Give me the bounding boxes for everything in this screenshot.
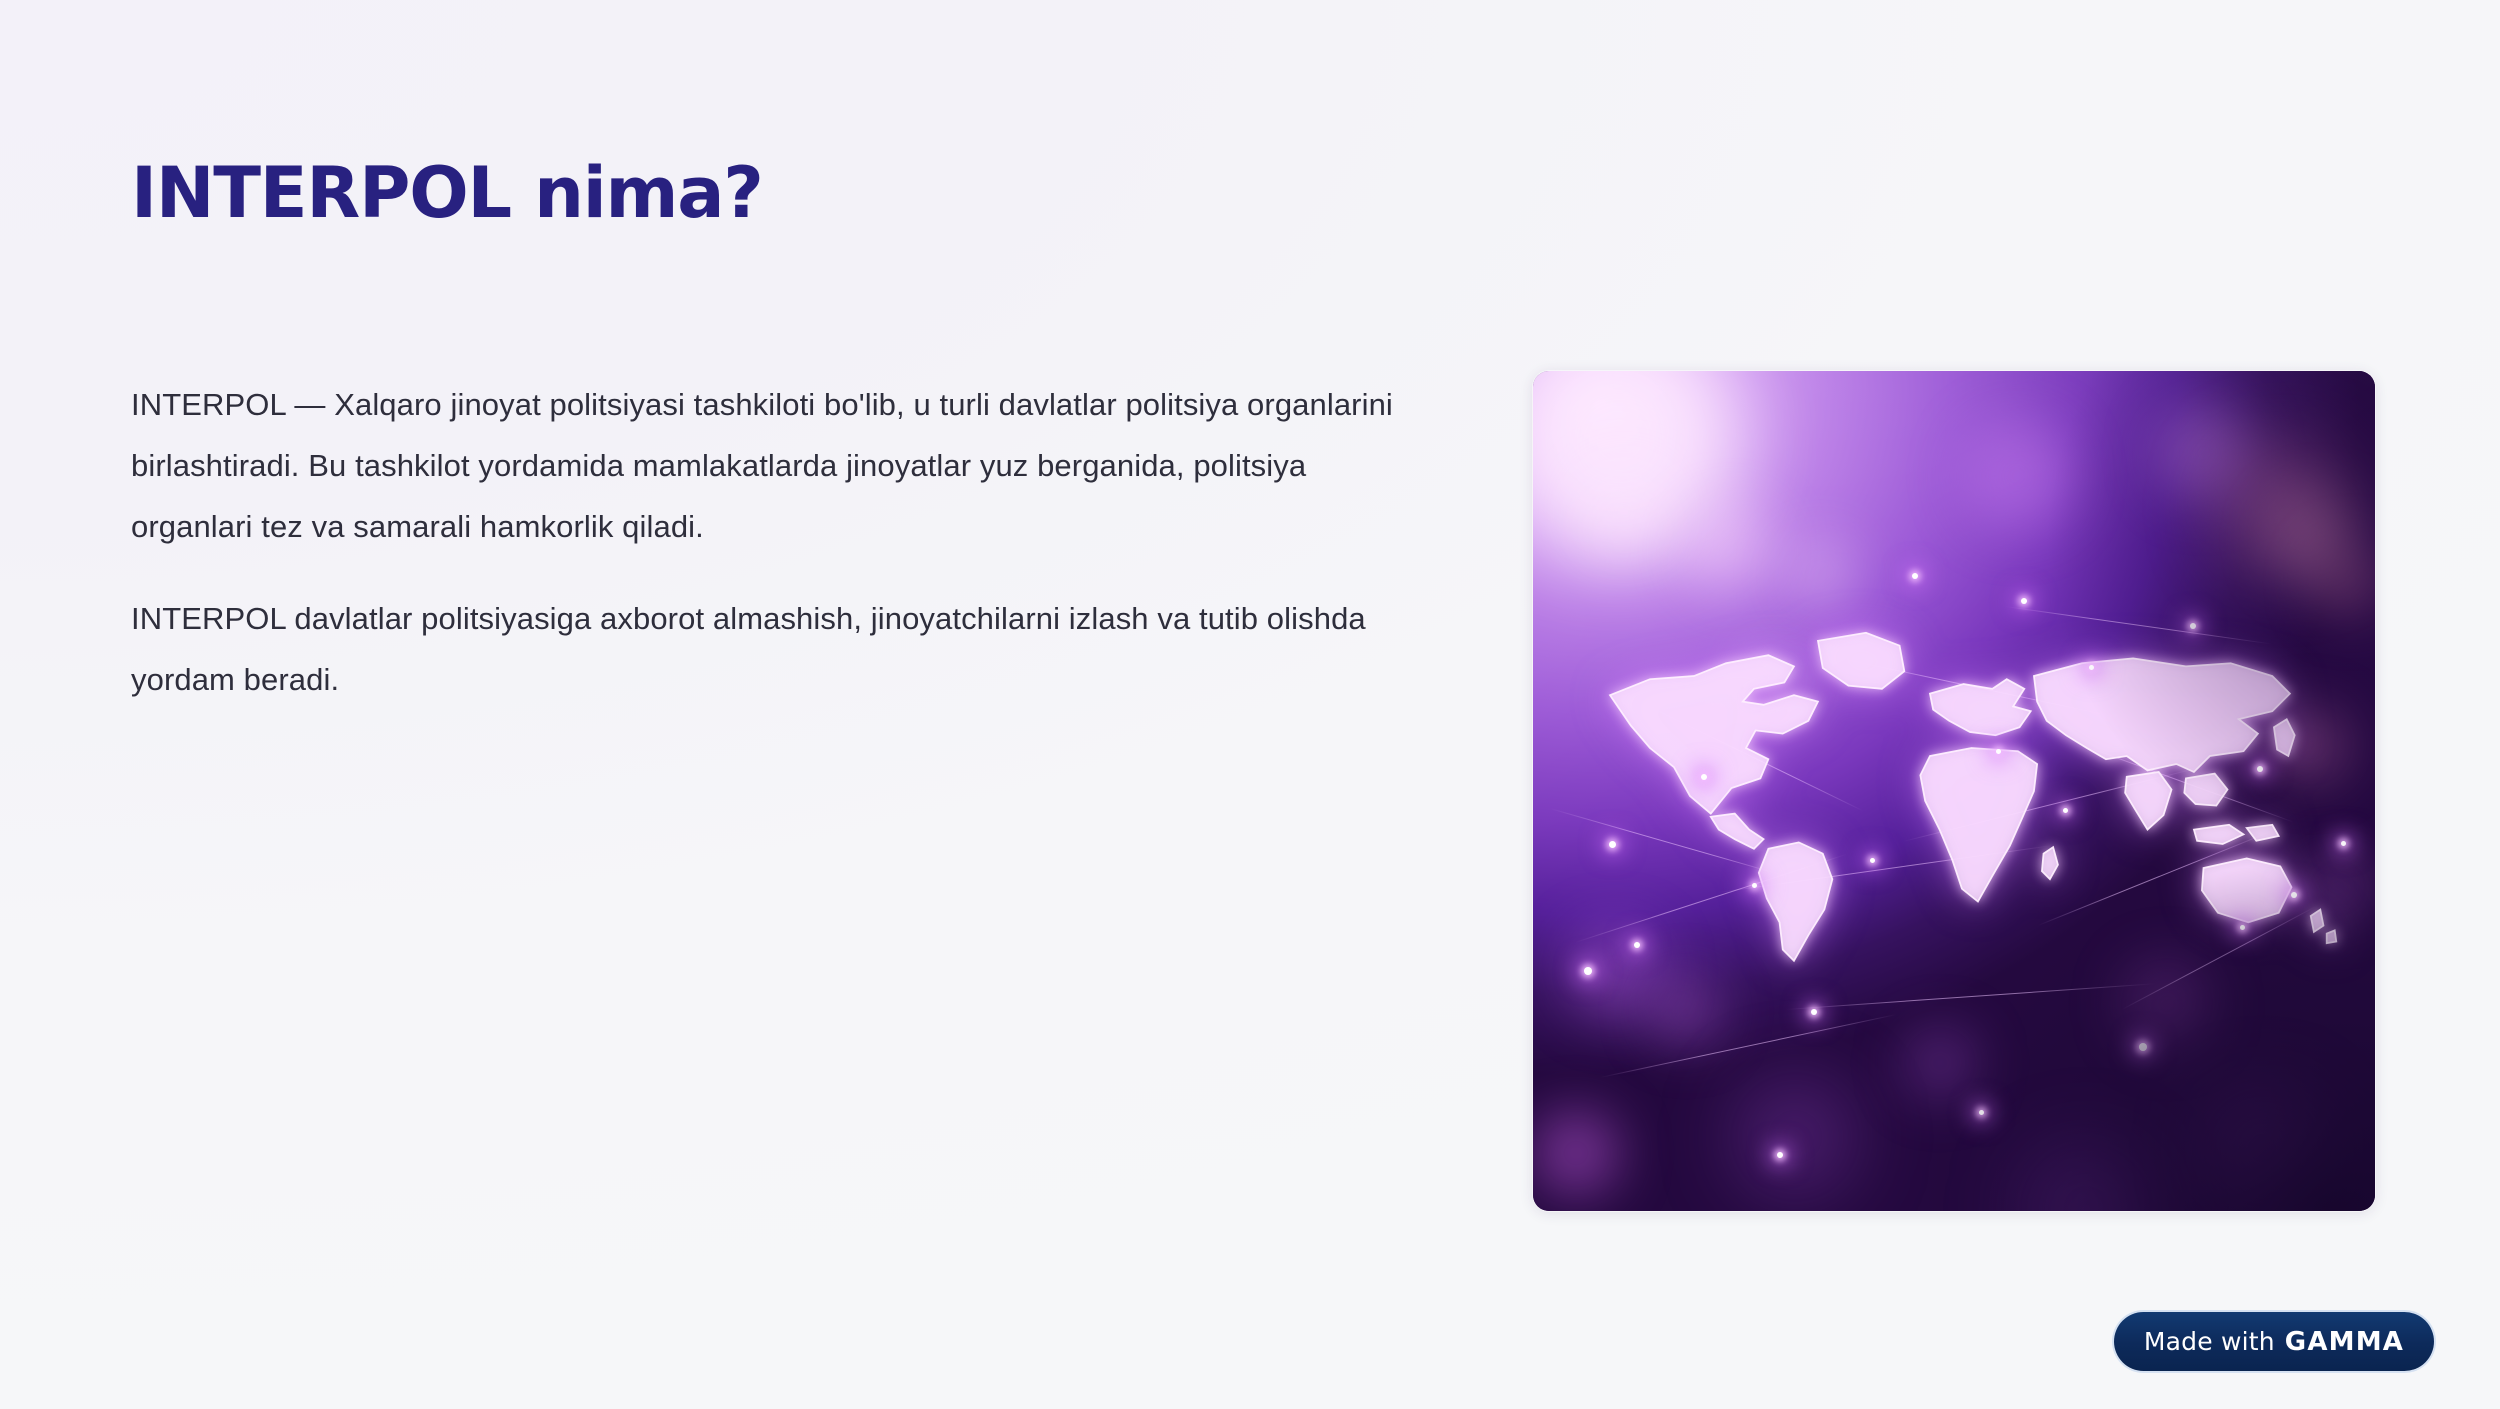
hero-image-canvas [1533, 371, 2375, 1211]
page-title: INTERPOL nima? [131, 158, 763, 228]
paragraph-1: INTERPOL — Xalqaro jinoyat politsiyasi t… [131, 374, 1431, 557]
gamma-badge-text: Made withGAMMA [2144, 1327, 2404, 1357]
made-with-gamma-badge[interactable]: Made withGAMMA [2114, 1312, 2434, 1371]
world-map-network-image [1533, 371, 2375, 1211]
gamma-badge-prefix: Made with [2144, 1327, 2275, 1356]
paragraph-2: INTERPOL davlatlar politsiyasiga axborot… [131, 588, 1431, 710]
slide-canvas: INTERPOL nima? INTERPOL — Xalqaro jinoya… [0, 0, 2500, 1409]
gamma-brand-wordmark: GAMMA [2285, 1327, 2404, 1357]
image-vignette [1533, 371, 2375, 1211]
body-copy: INTERPOL — Xalqaro jinoyat politsiyasi t… [131, 374, 1431, 710]
